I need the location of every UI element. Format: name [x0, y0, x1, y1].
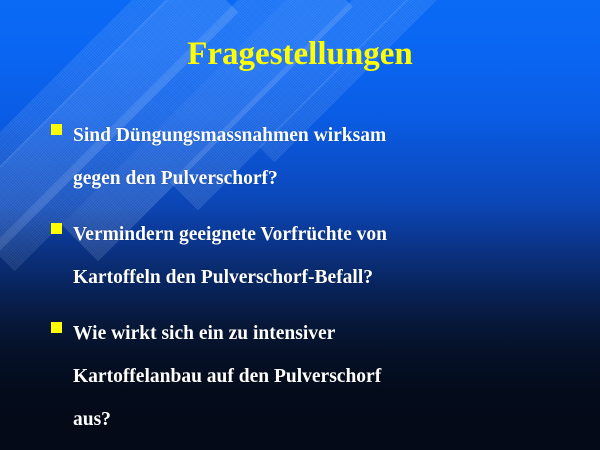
square-bullet-icon: [51, 322, 62, 333]
list-item: Sind Düngungsmassnahmen wirksam gegen de…: [50, 114, 570, 200]
bullet-line: Wie wirkt sich ein zu intensiver: [73, 312, 570, 355]
bullet-line: gegen den Pulverschorf?: [73, 157, 570, 200]
bullet-line: aus?: [73, 398, 570, 441]
square-bullet-icon: [51, 124, 62, 135]
slide-content: Fragestellungen Sind Düngungsmassnahmen …: [0, 0, 600, 450]
presentation-slide: Fragestellungen Sind Düngungsmassnahmen …: [0, 0, 600, 450]
list-item: Wie wirkt sich ein zu intensiver Kartoff…: [50, 312, 570, 441]
bullet-text-block: Wie wirkt sich ein zu intensiver Kartoff…: [50, 312, 570, 441]
bullet-text-block: Vermindern geeignete Vorfrüchte von Kart…: [50, 213, 570, 299]
slide-title: Fragestellungen: [0, 34, 600, 74]
bullet-line: Kartoffelanbau auf den Pulverschorf: [73, 355, 570, 398]
bullet-line: Kartoffeln den Pulverschorf-Befall?: [73, 256, 570, 299]
bullet-list: Sind Düngungsmassnahmen wirksam gegen de…: [50, 114, 570, 450]
bullet-line: Vermindern geeignete Vorfrüchte von: [73, 213, 570, 256]
bullet-line: Sind Düngungsmassnahmen wirksam: [73, 114, 570, 157]
square-bullet-icon: [51, 223, 62, 234]
bullet-text-block: Sind Düngungsmassnahmen wirksam gegen de…: [50, 114, 570, 200]
list-item: Vermindern geeignete Vorfrüchte von Kart…: [50, 213, 570, 299]
